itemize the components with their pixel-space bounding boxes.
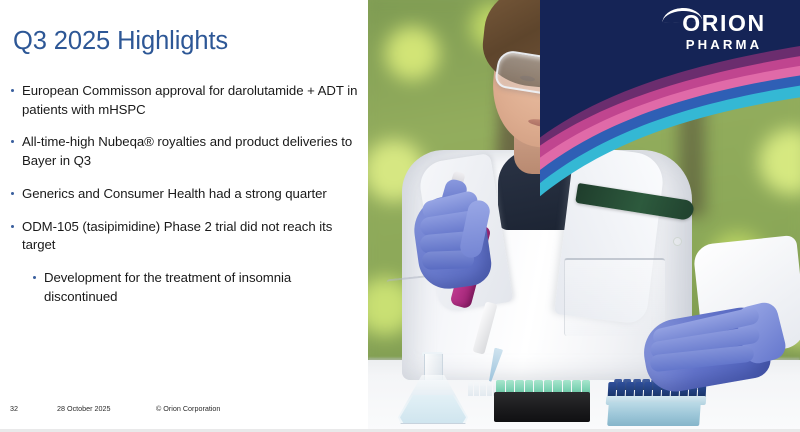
- page-title: Q3 2025 Highlights: [13, 27, 228, 56]
- logo-pharma-text: PHARMA: [660, 38, 788, 51]
- lab-scientist-photo: [368, 0, 800, 432]
- lab-coat-pocket: [564, 258, 665, 336]
- slide-footer: 32 28 October 2025 © Orion Corporation: [0, 404, 368, 418]
- blue-tube-rack: [607, 402, 701, 426]
- logo-orion-wordmark: ORION: [660, 12, 788, 35]
- slide-content-area: Q3 2025 Highlights European Commisson ap…: [0, 0, 368, 432]
- clear-tube: [474, 382, 479, 396]
- page-number: 32: [10, 404, 18, 413]
- list-item: All-time-high Nubeqa® royalties and prod…: [8, 133, 358, 170]
- presentation-slide: ORION PHARMA Q3 2025 Highlights European…: [0, 0, 800, 432]
- list-item-sub: Development for the treatment of insomni…: [30, 269, 358, 306]
- list-item: Generics and Consumer Health had a stron…: [8, 185, 358, 204]
- footer-copyright: © Orion Corporation: [156, 404, 220, 413]
- orion-pharma-logo: ORION PHARMA: [660, 12, 788, 51]
- coat-button: [673, 237, 682, 246]
- highlights-bullet-list: European Commisson approval for daroluta…: [8, 82, 358, 307]
- clear-tube: [468, 382, 473, 396]
- list-item: ODM-105 (tasipimidine) Phase 2 trial did…: [8, 218, 358, 255]
- clear-tube: [487, 382, 492, 396]
- clear-tube: [480, 382, 485, 396]
- black-tube-rack: [494, 392, 590, 422]
- list-item: European Commisson approval for daroluta…: [8, 82, 358, 119]
- footer-date: 28 October 2025: [57, 404, 111, 413]
